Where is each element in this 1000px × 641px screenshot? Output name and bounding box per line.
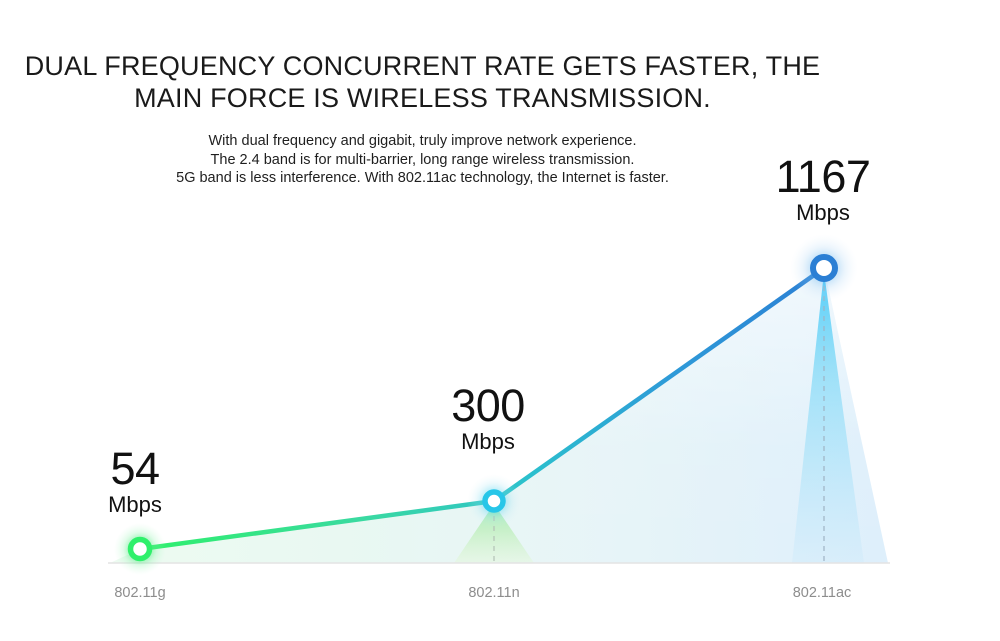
data-point-802-11g[interactable] [114, 523, 166, 575]
axis-label-802-11ac: 802.11ac [742, 584, 902, 602]
axis-label-802-11n: 802.11n [414, 584, 574, 602]
marker-ring-802-11ac[interactable] [813, 257, 835, 279]
axis-label-802-11g: 802.11g [60, 584, 220, 602]
data-point-802-11ac[interactable] [790, 234, 858, 302]
infographic-root: DUAL FREQUENCY CONCURRENT RATE GETS FAST… [0, 0, 1000, 641]
rate-line-chart [0, 0, 1000, 641]
marker-ring-802-11g[interactable] [131, 540, 150, 559]
data-point-802-11n[interactable] [467, 474, 521, 528]
chart-container: 54 Mbps 300 Mbps 1167 Mbps 802.11g 802.1… [0, 0, 1000, 641]
marker-ring-802-11n[interactable] [485, 492, 503, 510]
